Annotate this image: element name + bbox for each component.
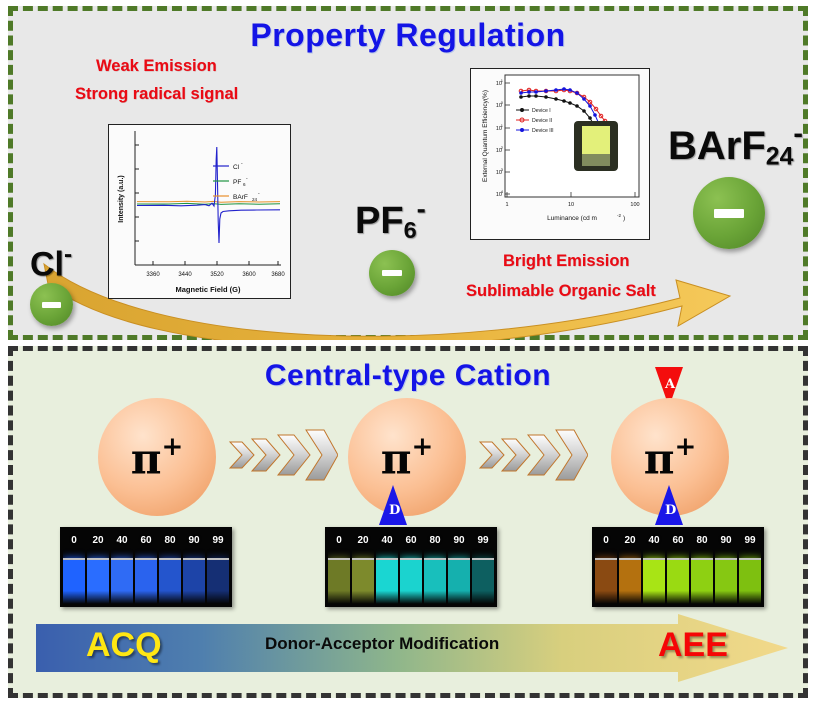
anion-base-cl: Cl xyxy=(30,245,64,283)
vial-liquid xyxy=(376,558,398,604)
svg-text:Device II: Device II xyxy=(532,118,552,124)
svg-text:PF: PF xyxy=(233,179,241,186)
anion-sup-cl: - xyxy=(64,241,72,268)
svg-text:-: - xyxy=(258,191,260,197)
vial-liquid xyxy=(135,558,157,604)
vial: 0 xyxy=(63,530,85,604)
toc-graphic: Property Regulation Weak Emission Strong… xyxy=(0,0,816,704)
vial-label: 20 xyxy=(352,535,374,546)
vial-label: 99 xyxy=(207,535,229,546)
vial-label: 90 xyxy=(183,535,205,546)
anion-sub-6: 6 xyxy=(404,217,417,243)
svg-text:1: 1 xyxy=(501,78,504,83)
svg-text:3680: 3680 xyxy=(271,272,285,278)
svg-text:-2: -2 xyxy=(617,213,621,218)
vial: 0 xyxy=(328,530,350,604)
svg-text:Device III: Device III xyxy=(532,128,554,134)
anion-sup-pf6: - xyxy=(417,193,426,224)
vial-label: 40 xyxy=(643,535,665,546)
vial-liquid xyxy=(643,558,665,604)
anion-base-barf: BArF xyxy=(668,124,766,168)
vial-liquid xyxy=(715,558,737,604)
svg-text:0: 0 xyxy=(501,100,504,105)
vial-liquid xyxy=(691,558,713,604)
vial: 99 xyxy=(472,530,494,604)
donor-letter-2: D xyxy=(389,503,400,518)
vial-liquid xyxy=(328,558,350,604)
bottom-panel-title: Central-type Cation xyxy=(13,359,803,393)
svg-text:3360: 3360 xyxy=(146,272,160,278)
vial-label: 40 xyxy=(111,535,133,546)
anion-ball-barf24 xyxy=(693,177,765,249)
svg-text:External Quantum Efficiency(%): External Quantum Efficiency(%) xyxy=(482,90,489,182)
vial: 20 xyxy=(352,530,374,604)
svg-text:Luminance (cd m: Luminance (cd m xyxy=(547,215,597,222)
svg-text:-1: -1 xyxy=(499,123,503,128)
vial: 80 xyxy=(424,530,446,604)
cation-unit-1: π+ xyxy=(98,398,216,516)
vial-label: 60 xyxy=(400,535,422,546)
vial-liquid xyxy=(87,558,109,604)
vial: 80 xyxy=(159,530,181,604)
vial: 20 xyxy=(87,530,109,604)
anion-label-chloride: Cl- xyxy=(30,243,72,281)
vial-label: 20 xyxy=(87,535,109,546)
vial-label: 0 xyxy=(595,535,617,546)
svg-text:6: 6 xyxy=(243,182,246,187)
minus-glyph xyxy=(382,270,402,276)
pi-cation-symbol-1: π+ xyxy=(131,434,184,481)
note-weak-emission: Weak Emission xyxy=(96,57,217,76)
anion-ball-pf6 xyxy=(369,250,415,296)
vial-liquid xyxy=(424,558,446,604)
vial-label: 40 xyxy=(376,535,398,546)
vial-label: 60 xyxy=(667,535,689,546)
vial-label: 99 xyxy=(739,535,761,546)
anion-base-pf: PF xyxy=(355,200,404,242)
donor-letter-3: D xyxy=(665,503,676,518)
svg-text:Device I: Device I xyxy=(532,108,551,114)
svg-text:3520: 3520 xyxy=(210,272,224,278)
vial: 40 xyxy=(643,530,665,604)
vial: 60 xyxy=(400,530,422,604)
svg-text:-3: -3 xyxy=(499,167,503,172)
anion-label-pf6: PF6- xyxy=(355,195,426,243)
svg-text:3440: 3440 xyxy=(178,272,192,278)
vial: 60 xyxy=(135,530,157,604)
svg-text:): ) xyxy=(623,215,625,222)
vial-liquid xyxy=(63,558,85,604)
vial-strip-aee-green: 0204060809099 xyxy=(592,527,764,607)
svg-text:BArF: BArF xyxy=(233,194,248,201)
acq-label: ACQ xyxy=(86,626,162,665)
pi-cation-symbol-3: π+ xyxy=(644,434,697,481)
vial-liquid xyxy=(159,558,181,604)
donor-acceptor-modification-label: Donor-Acceptor Modification xyxy=(265,634,499,654)
svg-text:100: 100 xyxy=(630,202,639,208)
vial-liquid xyxy=(448,558,470,604)
vial-label: 90 xyxy=(715,535,737,546)
vial-label: 80 xyxy=(424,535,446,546)
device-photo-inset xyxy=(574,121,618,171)
vial: 40 xyxy=(111,530,133,604)
note-strong-radical-signal: Strong radical signal xyxy=(75,85,238,104)
pi-cation-symbol-2: π+ xyxy=(381,434,434,481)
vial-liquid xyxy=(739,558,761,604)
top-panel-title: Property Regulation xyxy=(13,17,803,54)
vial-liquid xyxy=(183,558,205,604)
vial-liquid xyxy=(595,558,617,604)
eqe-vs-luminance-plot: 101 100 10-1 10-2 10-3 10-4 110100 xyxy=(470,68,650,240)
svg-text:Intensity (a.u.): Intensity (a.u.) xyxy=(118,175,125,222)
vial: 90 xyxy=(448,530,470,604)
cation-unit-2: π+ xyxy=(348,398,466,516)
vial-label: 0 xyxy=(63,535,85,546)
vial-liquid xyxy=(619,558,641,604)
vial-label: 99 xyxy=(472,535,494,546)
vial-liquid xyxy=(352,558,374,604)
svg-text:1: 1 xyxy=(505,202,508,208)
epr-spectrum-plot: Cl - PF 6 - BArF 24 - 3360 3440 3520 360… xyxy=(108,124,291,299)
vial-label: 20 xyxy=(619,535,641,546)
minus-glyph xyxy=(42,302,61,308)
vial: 99 xyxy=(739,530,761,604)
vial-label: 80 xyxy=(691,535,713,546)
vial-strip-acq-blue: 0204060809099 xyxy=(60,527,232,607)
minus-glyph xyxy=(714,209,744,218)
svg-text:10: 10 xyxy=(568,202,574,208)
vial-label: 90 xyxy=(448,535,470,546)
vial-liquid xyxy=(207,558,229,604)
vial-label: 0 xyxy=(328,535,350,546)
svg-text:-4: -4 xyxy=(499,189,503,194)
vial-label: 80 xyxy=(159,535,181,546)
vial-liquid xyxy=(472,558,494,604)
svg-text:Cl: Cl xyxy=(233,164,240,171)
vial: 20 xyxy=(619,530,641,604)
svg-text:3600: 3600 xyxy=(242,272,256,278)
anion-label-barf24: BArF24- xyxy=(668,120,803,170)
vial-label: 60 xyxy=(135,535,157,546)
vial-strip-cyan: 0204060809099 xyxy=(325,527,497,607)
vial: 90 xyxy=(715,530,737,604)
chevron-arrows-1 xyxy=(228,424,338,486)
vial: 99 xyxy=(207,530,229,604)
svg-text:Magnetic Field (G): Magnetic Field (G) xyxy=(175,285,241,294)
vial-liquid xyxy=(400,558,422,604)
aee-label: AEE xyxy=(658,626,728,665)
svg-text:-: - xyxy=(246,176,248,182)
anion-sup-barf24: - xyxy=(793,118,803,150)
svg-text:-2: -2 xyxy=(499,145,503,150)
svg-text:24: 24 xyxy=(252,197,258,202)
anion-sub-24: 24 xyxy=(766,143,794,170)
acceptor-letter-3: A xyxy=(665,377,675,392)
vial: 40 xyxy=(376,530,398,604)
vial: 80 xyxy=(691,530,713,604)
svg-text:-: - xyxy=(241,161,243,167)
anion-ball-chloride xyxy=(30,283,73,326)
vial: 60 xyxy=(667,530,689,604)
vial: 0 xyxy=(595,530,617,604)
chevron-arrows-2 xyxy=(478,424,588,486)
vial-liquid xyxy=(667,558,689,604)
vial-liquid xyxy=(111,558,133,604)
vial: 90 xyxy=(183,530,205,604)
